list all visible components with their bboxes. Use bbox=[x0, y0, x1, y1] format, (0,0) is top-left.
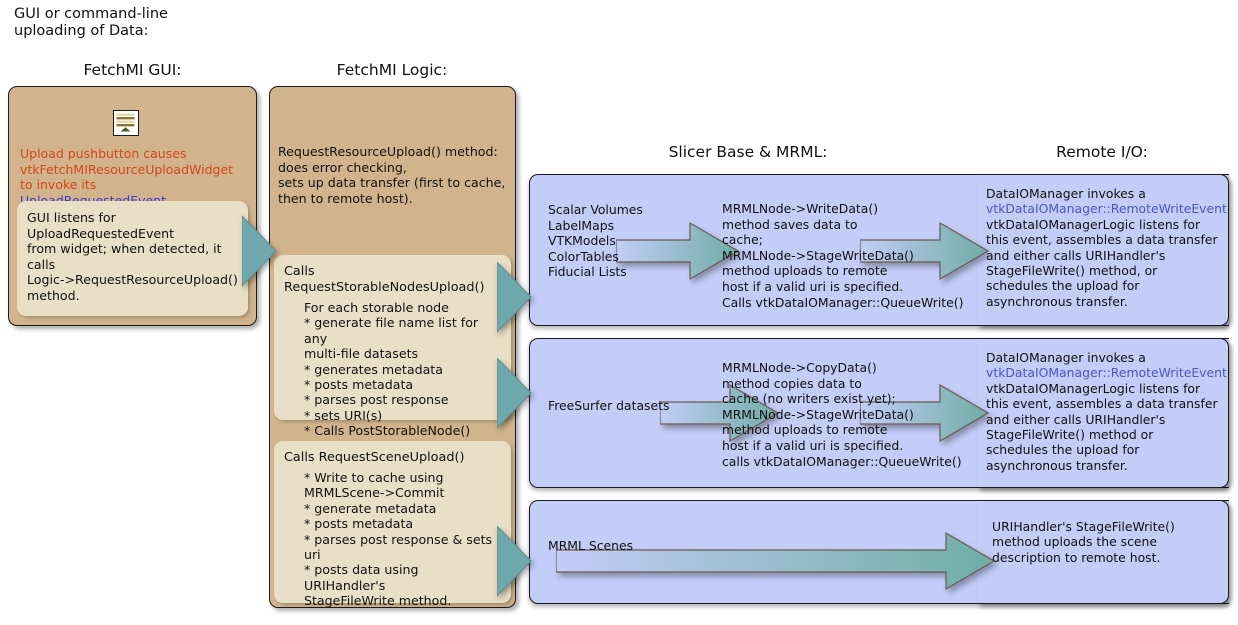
row1-method-description: MRMLNode->WriteData() method saves data … bbox=[722, 201, 972, 310]
row1-node-type-list: Scalar Volumes LabelMaps VTKModels Color… bbox=[548, 202, 688, 280]
connector-chevron-logic-to-row3 bbox=[497, 522, 535, 600]
logic-sub2-title: Calls RequestSceneUpload() bbox=[284, 450, 501, 466]
gui-red-line2: vtkFetchMIResourceUploadWidget bbox=[20, 162, 233, 177]
logic-sub2-steps: * Write to cache using MRMLScene->Commit… bbox=[284, 470, 501, 609]
row2-remote-io-description: DataIOManager invokes a vtkDataIOManager… bbox=[986, 350, 1231, 473]
column-caption-remote-io: Remote I/O: bbox=[966, 143, 1238, 161]
logic-request-resource-upload-text: RequestResourceUpload() method: does err… bbox=[278, 144, 512, 206]
logic-storable-nodes-subbox: Calls RequestStorableNodesUpload() For e… bbox=[274, 255, 511, 420]
row2-remote-line1: DataIOManager invokes a bbox=[986, 350, 1146, 365]
row2-method-description: MRMLNode->CopyData() method copies data … bbox=[722, 360, 972, 469]
row1-remote-event: vtkDataIOManager::RemoteWriteEvent bbox=[986, 201, 1227, 216]
connector-chevron-logic-to-row2 bbox=[497, 354, 535, 432]
gui-listener-subbox: GUI listens for UploadRequestedEvent fro… bbox=[17, 201, 248, 316]
gui-red-line1: Upload pushbutton causes bbox=[20, 146, 186, 161]
column-caption-fetchmi-gui: FetchMI GUI: bbox=[0, 61, 265, 79]
connector-chevron-logic-to-row1 bbox=[497, 258, 535, 336]
logic-scene-upload-subbox: Calls RequestSceneUpload() * Write to ca… bbox=[274, 441, 511, 603]
connector-chevron-gui-to-logic bbox=[242, 212, 280, 290]
page-title: GUI or command-line uploading of Data: bbox=[14, 6, 168, 40]
row2-remote-body: vtkDataIOManagerLogic listens for this e… bbox=[986, 381, 1218, 473]
row3-remote-io-description: URIHandler's StageFileWrite() method upl… bbox=[992, 519, 1232, 565]
row3-node-type-list: MRML Scenes bbox=[548, 538, 698, 554]
logic-sub1-steps: For each storable node * generate file n… bbox=[284, 300, 501, 439]
gui-upload-description: Upload pushbutton causesvtkFetchMIResour… bbox=[20, 146, 248, 208]
row2-remote-event: vtkDataIOManager::RemoteWriteEvent bbox=[986, 365, 1227, 380]
column-caption-slicer-base-mrml: Slicer Base & MRML: bbox=[528, 143, 968, 161]
row1-remote-io-description: DataIOManager invokes a vtkDataIOManager… bbox=[986, 186, 1231, 309]
column-caption-fetchmi-logic: FetchMI Logic: bbox=[268, 61, 516, 79]
gui-red-line3-prefix: to invoke its bbox=[20, 177, 96, 192]
logic-sub1-title: Calls RequestStorableNodesUpload() bbox=[284, 264, 501, 296]
upload-widget-icon[interactable] bbox=[113, 110, 139, 136]
row1-remote-line1: DataIOManager invokes a bbox=[986, 186, 1146, 201]
row2-node-type-list: FreeSurfer datasets bbox=[548, 398, 698, 414]
gui-listener-text: GUI listens for UploadRequestedEvent fro… bbox=[27, 210, 238, 304]
row1-remote-body: vtkDataIOManagerLogic listens for this e… bbox=[986, 217, 1218, 309]
